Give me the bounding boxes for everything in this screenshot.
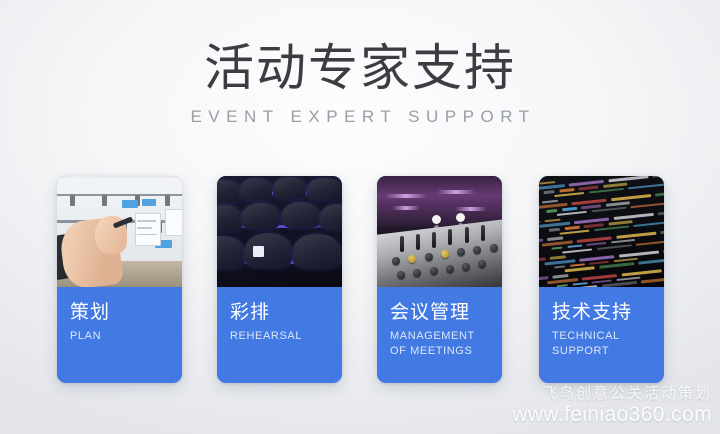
whiteboard-planning-photo <box>57 176 182 287</box>
service-card-list: 策划 PLAN 彩 <box>0 176 720 384</box>
theater-seats-photo <box>217 176 342 287</box>
watermark-brand: 飞鸟创意公关活动策划 <box>512 384 712 402</box>
card-body: 彩排 REHEARSAL <box>217 287 342 383</box>
page-header: 活动专家支持 EVENT EXPERT SUPPORT <box>0 42 720 127</box>
source-code-screen-photo <box>539 176 664 287</box>
service-card-plan[interactable]: 策划 PLAN <box>57 176 182 383</box>
card-title-en: MANAGEMENT OF MEETINGS <box>390 329 489 358</box>
watermark-url: www.feiniao360.com <box>512 402 712 428</box>
page-title: 活动专家支持 <box>0 42 720 95</box>
page-subtitle: EVENT EXPERT SUPPORT <box>0 107 720 127</box>
card-title-en: TECHNICAL SUPPORT <box>552 329 651 358</box>
card-title-cn: 策划 <box>70 301 169 323</box>
card-body: 会议管理 MANAGEMENT OF MEETINGS <box>377 287 502 383</box>
card-title-en: PLAN <box>70 329 169 344</box>
card-body: 技术支持 TECHNICAL SUPPORT <box>539 287 664 383</box>
audio-mixing-console-photo <box>377 176 502 287</box>
card-title-cn: 技术支持 <box>552 301 651 323</box>
card-body: 策划 PLAN <box>57 287 182 383</box>
card-title-cn: 会议管理 <box>390 301 489 323</box>
card-title-en: REHEARSAL <box>230 329 329 344</box>
service-card-meeting-management[interactable]: 会议管理 MANAGEMENT OF MEETINGS <box>377 176 502 383</box>
service-card-technical-support[interactable]: 技术支持 TECHNICAL SUPPORT <box>539 176 664 383</box>
service-card-rehearsal[interactable]: 彩排 REHEARSAL <box>217 176 342 383</box>
card-title-cn: 彩排 <box>230 301 329 323</box>
watermark: 飞鸟创意公关活动策划 www.feiniao360.com <box>512 384 712 428</box>
